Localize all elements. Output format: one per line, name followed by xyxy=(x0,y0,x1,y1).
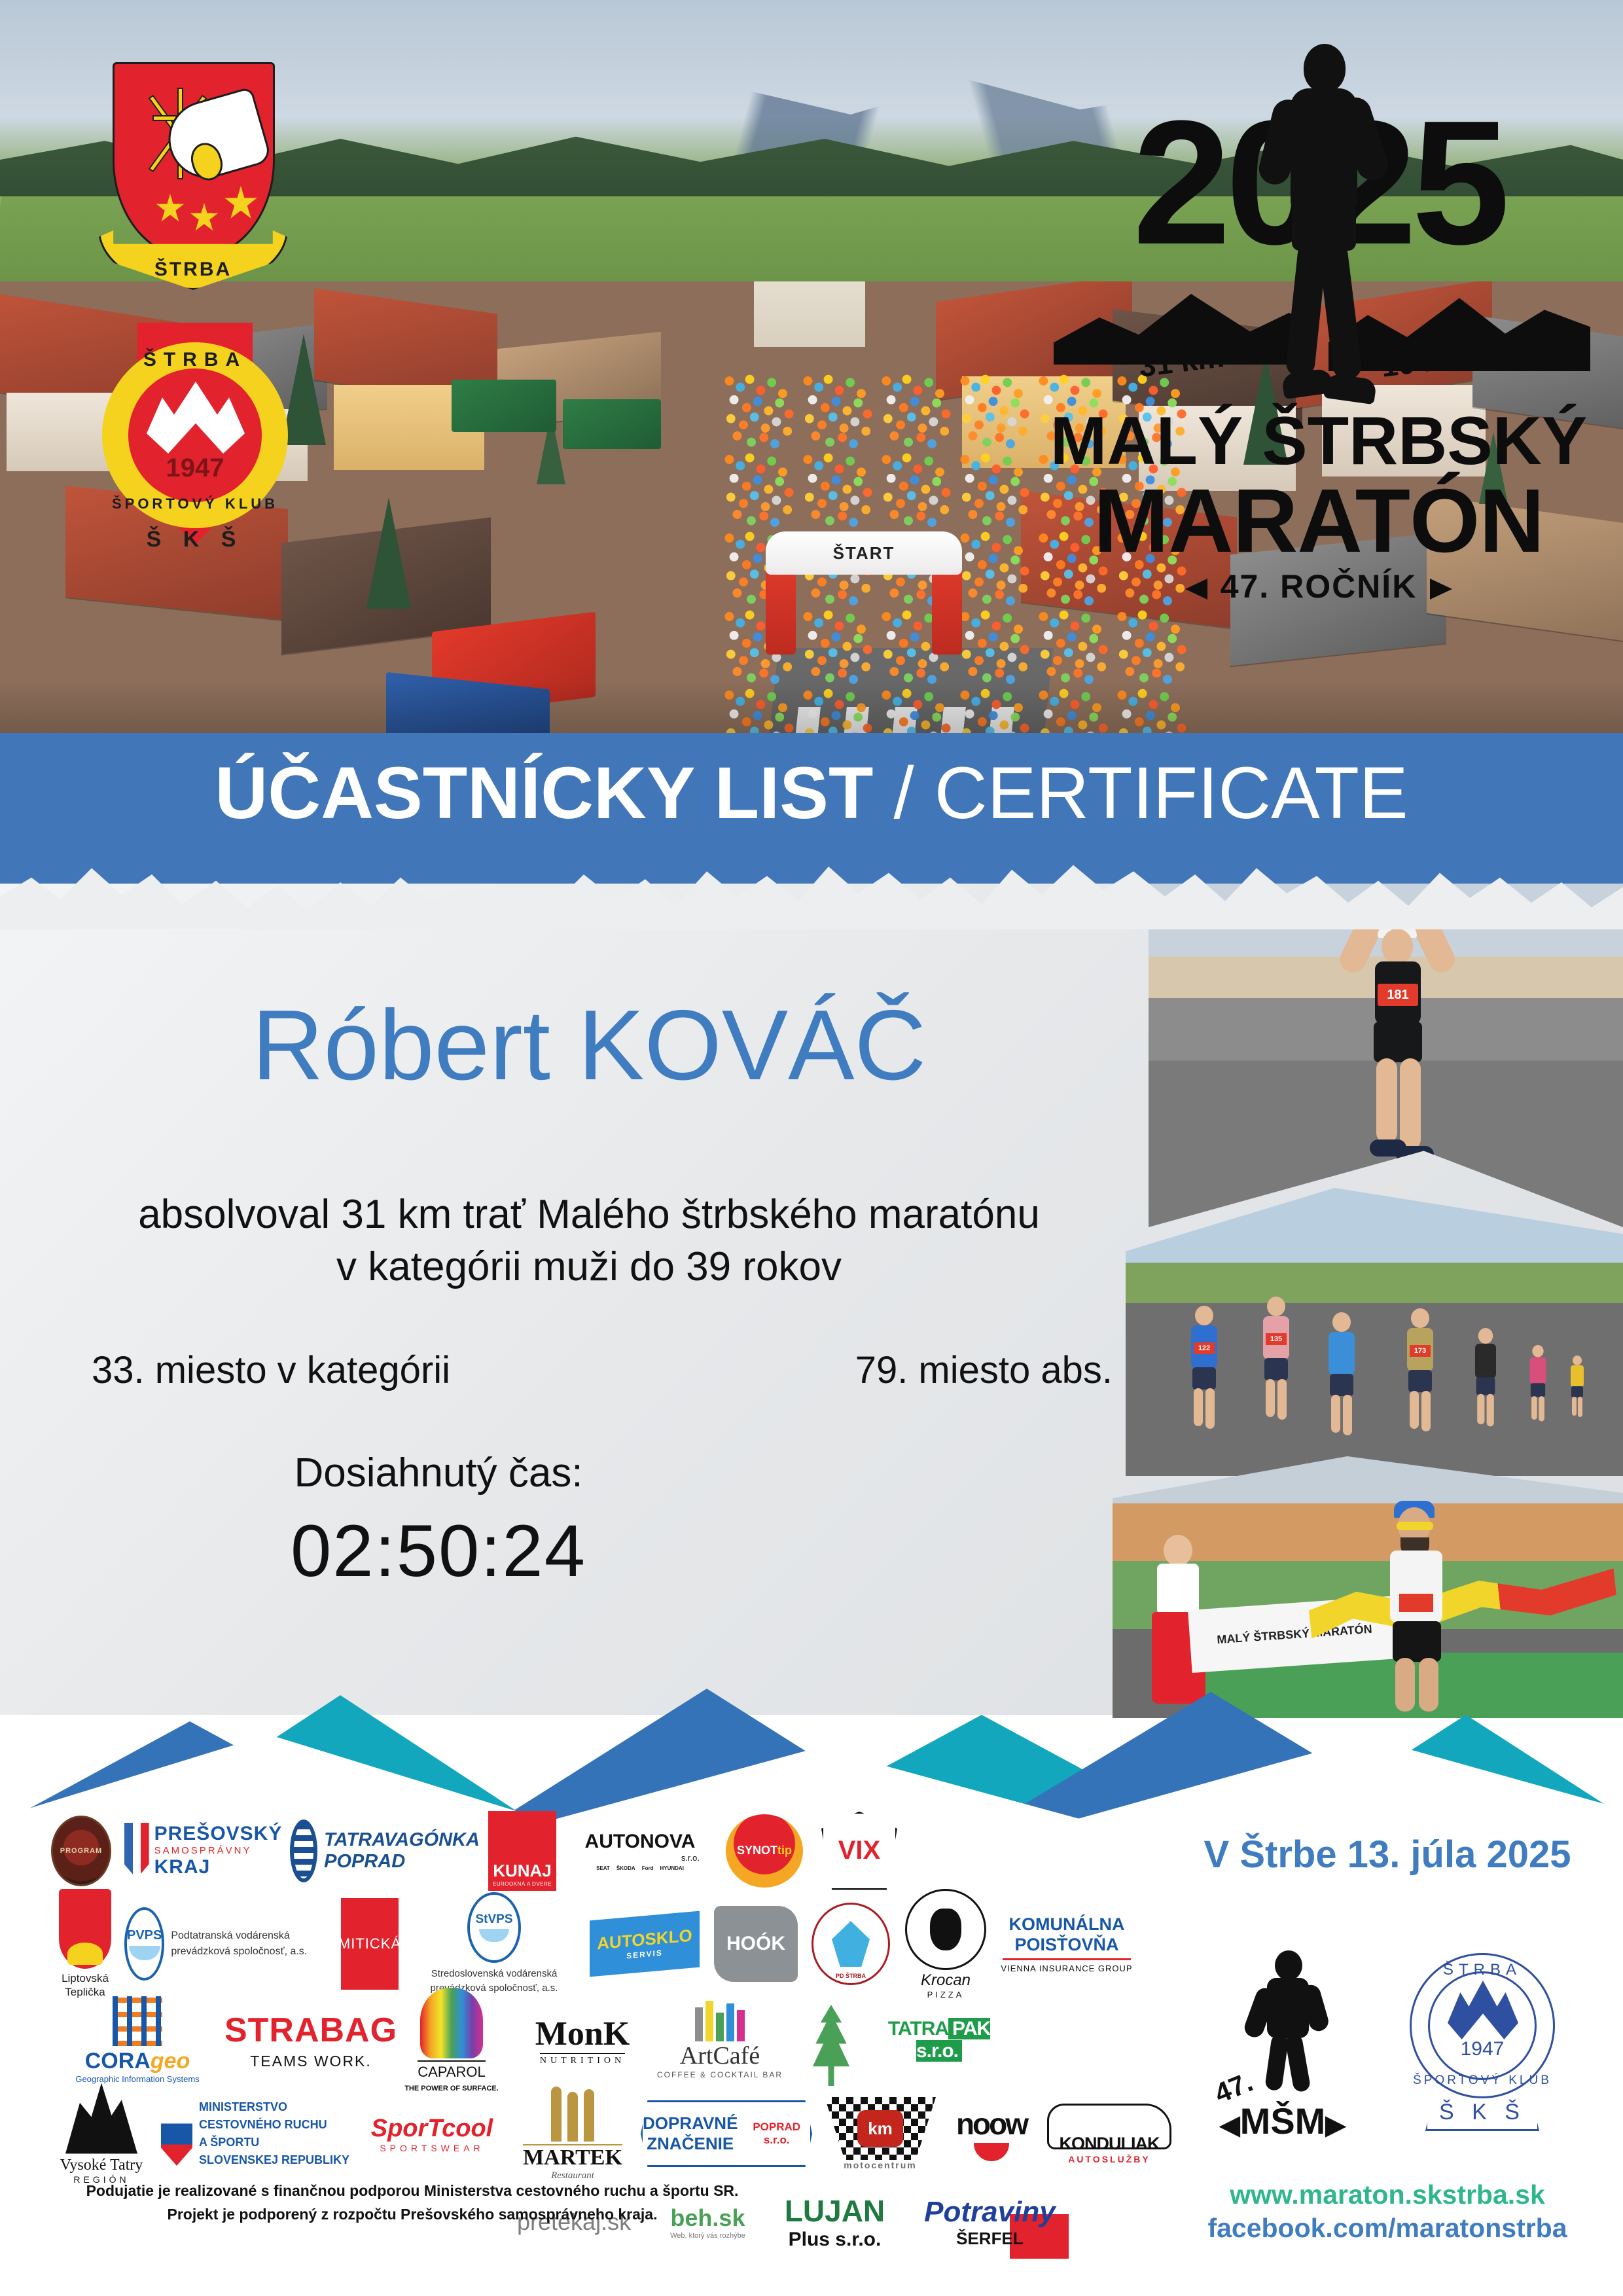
sponsor-psk-line3: KRAJ xyxy=(154,1856,283,1878)
sponsor-beh-sub: Web, ktorý vás rozhýbe xyxy=(670,2232,745,2240)
photo-collage: 181 122 135 173 MALÝ ŠTRBSKÝ MARATÓN xyxy=(1113,880,1623,1718)
crest-star xyxy=(189,203,219,233)
sponsor-tatravagonka: TATRAVAGÓNKA POPRAD xyxy=(290,1820,480,1882)
sponsor-miticka-name: MITICKÁ xyxy=(341,1898,399,1990)
sponsor-row-4: Vysoké Tatry REGIÓN MINISTERSTVO CESTOVN… xyxy=(46,2088,1158,2179)
sponsor-pvps-name: PVPS xyxy=(127,1928,162,1943)
certificate-title-banner: ÚČASTNÍCKY LIST / CERTIFICATE xyxy=(0,733,1623,884)
sponsor-kunaj-sub: EUROOKNÁ A DVERE xyxy=(493,1881,552,1887)
race-name-line2: MARATÓN xyxy=(1041,469,1597,573)
sponsor-program-label: PROGRAM xyxy=(60,1847,102,1855)
sponsor-cora-name: CORA xyxy=(85,2049,151,2073)
sks-initials: Š K Š xyxy=(97,527,293,552)
sponsor-strabag-name: STRABAG xyxy=(224,2011,397,2050)
msm-47-logo: 47. ◀MŠM▶ xyxy=(1211,1944,1355,2140)
stamp-top-text: ŠTRBA xyxy=(1400,1961,1564,1979)
autonova-brand-row: SEAT ŠKODA Ford HYUNDAI xyxy=(596,1865,684,1871)
photo-runner-pack: 122 135 173 xyxy=(1126,1188,1623,1476)
sponsor-row-3: CORAgeo Geographic Information Systems S… xyxy=(46,1998,1158,2083)
certificate-date: V Štrbe 13. júla 2025 xyxy=(1178,1833,1597,1876)
bib-number: 135 xyxy=(1266,1333,1287,1345)
sponsor-strabag: STRABAG TEAMS WORK. xyxy=(229,2011,393,2070)
sponsor-monk-sub: NUTRITION xyxy=(540,2053,625,2066)
sponsor-pd-name: PD ŠTRBA xyxy=(836,1973,866,1979)
sponsor-martek-name: MARTEK xyxy=(523,2144,622,2170)
sks-club-logo: 1947 ŠTRBA ŠPORTOVÝ KLUB Š K Š xyxy=(97,331,293,547)
sponsor-hook-name: HOÓK xyxy=(714,1906,798,1982)
sponsor-autonova-name: AUTONOVA xyxy=(585,1831,696,1853)
sponsor-tatrapak-name: TATRA xyxy=(888,2018,948,2039)
sponsor-dopr-line1: DOPRAVNÉ xyxy=(643,2113,738,2134)
sponsor-sportcool-sub: SPORTSWEAR xyxy=(380,2143,484,2153)
race-logo: 2025 31 km 10 km MALÝ ŠTRBSKÝ MARATÓN 47… xyxy=(1041,36,1597,612)
sponsor-monk-nutrition: MonK NUTRITION xyxy=(510,2015,654,2066)
brand-ford: Ford xyxy=(642,1865,654,1871)
certificate-line-1: absolvoval 31 km trať Malého štrbského m… xyxy=(79,1191,1099,1238)
sponsor-lujan-name: LUJAN xyxy=(785,2193,885,2229)
sponsor-monk-name: MonK xyxy=(535,2015,630,2053)
start-arch-label: ŠTART xyxy=(833,543,895,564)
sponsor-presovsky-kraj: PREŠOVSKÝ SAMOSPRÁVNY KRAJ xyxy=(116,1823,290,1879)
sponsor-synot-name: SYNOT xyxy=(737,1844,777,1857)
stamp-bottom-text: ŠPORTOVÝ KLUB xyxy=(1400,2073,1564,2088)
footer-logos: 47. ◀MŠM▶ 1947 ŠTRBA ŠPORTOVÝ KLUB Š K Š xyxy=(1178,1931,1597,2153)
sponsor-dopravne-znacenie: DOPRAVNÉ ZNAČENIE POPRAD s.r.o. xyxy=(635,2100,818,2167)
sponsor-tvp-line2: POPRAD xyxy=(324,1851,480,1873)
race-edition-wrap: 47. ROČNÍK xyxy=(1041,567,1597,605)
sks-bottom-text: ŠPORTOVÝ KLUB xyxy=(97,495,293,512)
crest-shield xyxy=(113,62,275,259)
corageo-grid-icon xyxy=(113,1996,162,2046)
slovakia-flag-icon xyxy=(161,2102,192,2166)
sponsor-km-motocentrum: km motocentrum xyxy=(818,2097,942,2170)
sponsor-row-1: PROGRAM PREŠOVSKÝ SAMOSPRÁVNY KRAJ TATRA… xyxy=(46,1813,1158,1888)
sponsor-miticka: MITICKÁ xyxy=(334,1898,406,1990)
sponsor-sportcool: SporTcool SPORTSWEAR xyxy=(353,2115,510,2153)
triangle-left-icon xyxy=(1185,579,1207,600)
race-edition: 47. ROČNÍK xyxy=(1221,568,1418,605)
sponsor-artcafe-name: ArtCafé xyxy=(680,2041,760,2070)
sponsor-stvps-name: StVPS xyxy=(475,1912,512,1927)
participant-name: Róbert KOVÁČ xyxy=(79,988,1099,1103)
certificate-line-2: v kategórii muži do 39 rokov xyxy=(79,1244,1099,1290)
sponsor-caparol: CAPAROL THE POWER OF SURFACE. xyxy=(393,1988,510,2092)
runner-icon xyxy=(1249,1950,1327,2088)
sponsor-dopr-line3: POPRAD s.r.o. xyxy=(743,2121,810,2147)
bib-number: 181 xyxy=(1378,984,1418,1006)
strba-coat-of-arms: ŠTRBA xyxy=(98,62,288,304)
finish-time-label: Dosiahnutý čas: xyxy=(79,1450,798,1496)
sponsor-cora-accent: geo xyxy=(151,2049,190,2073)
banner-title-en: / CERTIFICATE xyxy=(893,752,1408,834)
sponsor-tatrapak: TATRAPAK s.r.o. xyxy=(877,2018,1001,2062)
bib-number: 122 xyxy=(1194,1342,1215,1354)
presov-flag-icon xyxy=(124,1823,149,1879)
placement-row: 33. miesto v kategórii 79. miesto abs. xyxy=(92,1348,1113,1392)
sponsor-kunaj: KUNAJ EUROOKNÁ A DVERE xyxy=(480,1811,565,1891)
sponsor-pvps-desc: Podtatranská vodárenská prevádzková spol… xyxy=(171,1928,334,1960)
sponsor-stvps: StVPS Stredoslovenská vodárenská prevádz… xyxy=(406,1892,582,1996)
sponsor-krocan-pizza: Krocan PIZZA xyxy=(897,1889,995,2000)
sponsor-artcafe-sub: COFFEE & COCKTAIL BAR xyxy=(657,2070,783,2079)
runner-pack: 122 135 173 xyxy=(1126,1286,1623,1476)
sks-top-text: ŠTRBA xyxy=(97,349,293,371)
sponsor-konduliak-sub: AUTOSLUŽBY xyxy=(1068,2154,1150,2164)
sponsor-pd-strba: PD ŠTRBA xyxy=(805,1903,897,1985)
sponsor-ministerstvo: MINISTERSTVO CESTOVNÉHO RUCHU A ŠPORTU S… xyxy=(157,2098,353,2169)
sponsor-krocan-name: Krocan xyxy=(921,1971,971,1990)
sponsor-liptovska-teplicka: Liptovská Teplička xyxy=(46,1889,124,1999)
sponsor-tvp-line1: TATRAVAGÓNKA xyxy=(324,1829,480,1851)
sponsor-autonova: AUTONOVA s.r.o. SEAT ŠKODA Ford HYUNDAI xyxy=(565,1831,715,1871)
checkered-flag-icon: km xyxy=(825,2097,936,2160)
sponsor-caparol-name: CAPAROL xyxy=(418,2060,486,2081)
sponsor-potraviny-name: Potraviny xyxy=(924,2196,1056,2229)
turkey-icon xyxy=(930,1909,961,1950)
funding-note: Podujatie je realizované s finančnou pod… xyxy=(59,2179,766,2226)
church-building xyxy=(766,281,851,347)
sponsor-lujan-plus: LUJAN Plus s.r.o. xyxy=(785,2193,885,2251)
website-link[interactable]: www.maraton.skstrba.sk xyxy=(1178,2179,1597,2210)
sponsor-row-2: Liptovská Teplička PVPS Podtatranská vod… xyxy=(46,1898,1158,1990)
finish-time-value: 02:50:24 xyxy=(79,1509,798,1593)
sponsor-potraviny-sub: ŠERFEL xyxy=(956,2229,1024,2249)
sponsor-autonova-sub: s.r.o. xyxy=(681,1853,700,1863)
stamp-initials: Š K Š xyxy=(1400,2100,1564,2125)
sponsor-corageo: CORAgeo Geographic Information Systems xyxy=(46,1996,229,2084)
sponsor-komunalna-line3: VIENNA INSURANCE GROUP xyxy=(1001,1964,1132,1973)
brand-hyundai: HYUNDAI xyxy=(660,1865,683,1871)
sponsor-komunalna-poistovna: KOMUNÁLNA POISŤOVŇA VIENNA INSURANCE GRO… xyxy=(995,1914,1139,1973)
sponsor-synot-accent: tip xyxy=(777,1844,792,1857)
sponsor-min-line4: SLOVENSKEJ REPUBLIKY xyxy=(199,2151,349,2169)
tatravagonka-mark-icon xyxy=(290,1820,317,1882)
cutlery-icon xyxy=(551,2087,594,2142)
sponsor-program: PROGRAM xyxy=(46,1816,116,1886)
sponsor-strabag-sub: TEAMS WORK. xyxy=(250,2053,372,2070)
crest-star xyxy=(155,194,185,224)
sponsor-min-line3: A ŠPORTU xyxy=(199,2134,349,2151)
sponsor-vt-name: Vysoké Tatry xyxy=(60,2157,143,2174)
sponsor-komunalna-line1: KOMUNÁLNA xyxy=(1009,1914,1125,1935)
sponsor-vix: VIX xyxy=(813,1812,905,1890)
sks-stamp-logo: 1947 ŠTRBA ŠPORTOVÝ KLUB Š K Š xyxy=(1400,1950,1564,2134)
sponsor-vysoke-tatry-region: Vysoké Tatry REGIÓN xyxy=(46,2083,157,2185)
sponsor-pvps: PVPS Podtatranská vodárenská prevádzková… xyxy=(124,1907,334,1981)
sponsor-psk-line1: PREŠOVSKÝ xyxy=(154,1823,283,1845)
sponsor-artcafe: ArtCafé COFFEE & COCKTAIL BAR xyxy=(654,2001,785,2079)
sponsor-min-line2: CESTOVNÉHO RUCHU xyxy=(199,2116,349,2134)
sponsor-konduliak-name: KONDULIAK xyxy=(1060,2134,1160,2154)
sponsor-potraviny-serfel: Potraviny ŠERFEL xyxy=(924,2196,1056,2249)
tree-icon xyxy=(807,2005,855,2086)
crest-name-label: ŠTRBA xyxy=(98,259,288,281)
sponsor-km-sub: motocentrum xyxy=(844,2160,916,2170)
sponsor-hook: HOÓK xyxy=(707,1906,805,1982)
sponsor-kunaj-name: KUNAJ xyxy=(493,1861,552,1881)
start-arch: ŠTART xyxy=(766,517,962,655)
sponsor-martek-restaurant: MARTEK Restaurant xyxy=(510,2087,635,2181)
sponsor-sportcool-name: SporTcool xyxy=(371,2115,493,2143)
sponsor-lujan-sub: Plus s.r.o. xyxy=(789,2229,882,2251)
caparol-elephant-icon xyxy=(420,1988,483,2058)
sponsor-logo-grid: PROGRAM PREŠOVSKÝ SAMOSPRÁVNY KRAJ TATRA… xyxy=(46,1813,1158,2206)
sponsor-konduliak: KONDULIAK AUTOSLUŽBY xyxy=(1041,2104,1178,2164)
celebrating-runner: 181 xyxy=(1345,906,1450,1181)
photo-finisher-celebrating: 181 xyxy=(1149,880,1623,1227)
facebook-link[interactable]: facebook.com/maratonstrba xyxy=(1178,2213,1597,2244)
tatra-mountain-icon xyxy=(65,2083,137,2154)
bib-number: 173 xyxy=(1410,1345,1431,1357)
stamp-year: 1947 xyxy=(1428,2038,1537,2060)
runner-silhouette-icon xyxy=(1257,36,1387,442)
brand-seat: SEAT xyxy=(596,1865,610,1871)
sponsor-km-name: km xyxy=(857,2110,903,2147)
sponsor-noow: noow xyxy=(942,2106,1041,2161)
banner-title-sk: ÚČASTNÍCKY LIST xyxy=(215,752,873,834)
sponsor-komunalna-line2: POISŤOVŇA xyxy=(1014,1935,1118,1955)
sponsor-lt-name: Liptovská Teplička xyxy=(46,1972,124,1999)
sks-founded-year: 1947 xyxy=(128,454,262,483)
sponsor-vix-name: VIX xyxy=(821,1812,897,1890)
sponsor-noow-name: noow xyxy=(956,2106,1027,2142)
sponsor-ps-urbar-strba: PS URBÁR ŠTRBA xyxy=(785,2005,877,2075)
sponsor-min-line1: MINISTERSTVO xyxy=(199,2098,349,2116)
sponsor-psk-line2: SAMOSPRÁVNY xyxy=(154,1845,283,1856)
footer-links: www.maraton.skstrba.sk facebook.com/mara… xyxy=(1178,2179,1597,2244)
triangle-right-icon xyxy=(1430,579,1452,600)
brand-skoda: ŠKODA xyxy=(616,1865,635,1871)
sponsor-synot-tip: SYNOTtip xyxy=(715,1814,813,1888)
sponsor-autosklo-servis: AUTOSKLO SERVIS xyxy=(582,1916,707,1972)
place-in-category: 33. miesto v kategórii xyxy=(92,1348,450,1392)
banner-title: ÚČASTNÍCKY LIST / CERTIFICATE xyxy=(0,757,1623,830)
place-absolute: 79. miesto abs. xyxy=(855,1348,1113,1392)
hero-gradient-overlay xyxy=(0,681,1623,733)
noow-smile-icon xyxy=(974,2143,1009,2161)
msm-initials: ◀MŠM▶ xyxy=(1215,2100,1351,2142)
crest-star xyxy=(223,186,259,221)
sponsor-dopr-line2: ZNAČENIE xyxy=(643,2134,738,2154)
artcafe-bars-icon xyxy=(695,2001,745,2041)
